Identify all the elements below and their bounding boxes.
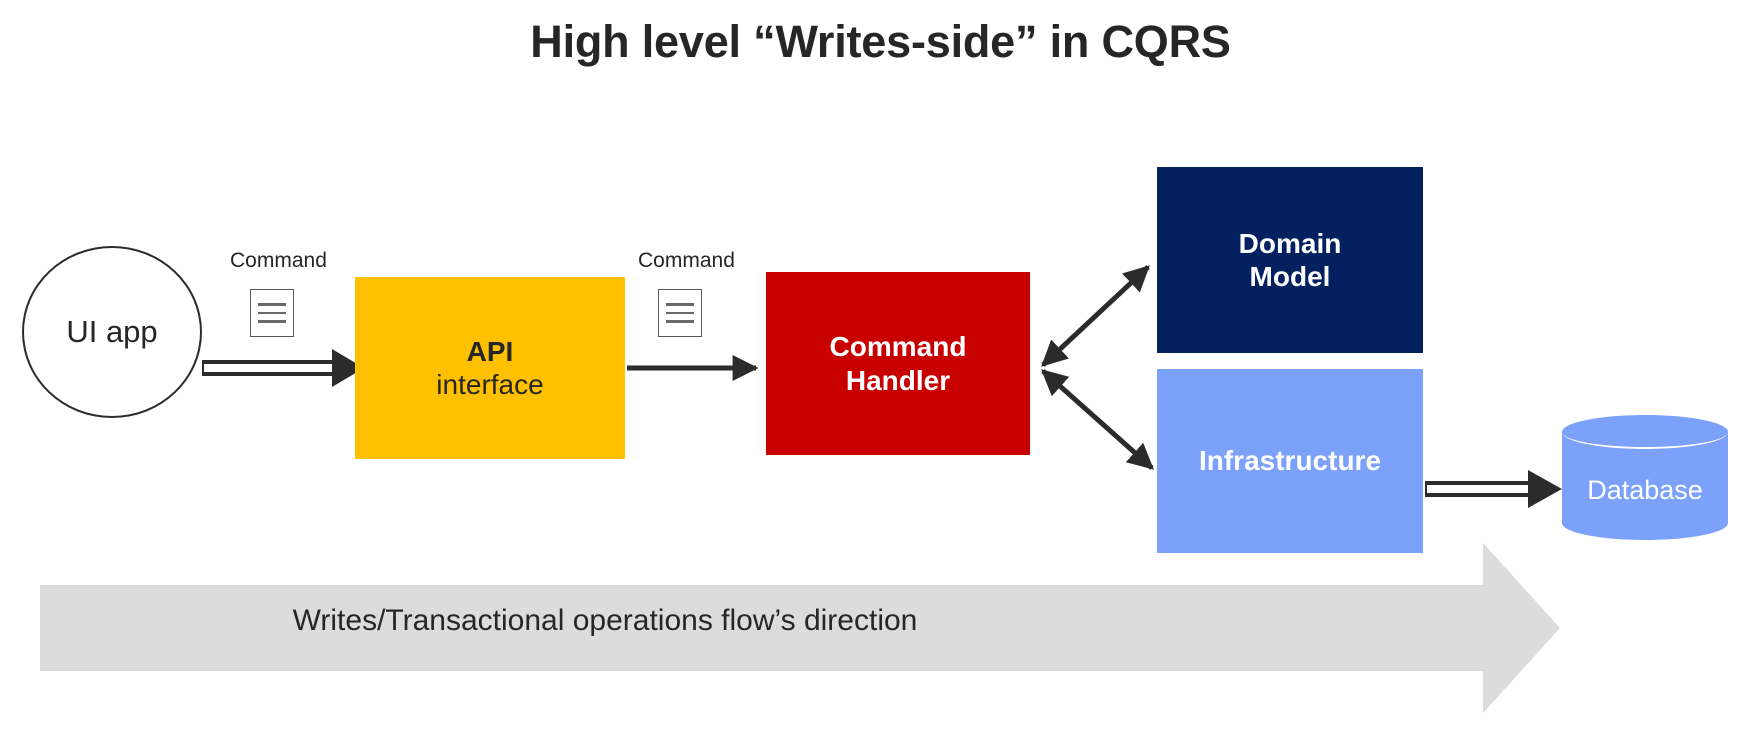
document-lines-icon	[658, 289, 702, 337]
database-cylinder-top	[1562, 415, 1728, 449]
edge-infrastructure-to-database	[1425, 470, 1562, 508]
command-handler-line-2: Handler	[846, 364, 950, 397]
node-api-interface[interactable]: API interface	[355, 277, 625, 459]
edge-command-handler-to-domain-model	[1043, 267, 1148, 365]
infrastructure-label: Infrastructure	[1199, 444, 1381, 477]
command-handler-line-1: Command	[830, 330, 967, 363]
document-lines-icon	[250, 289, 294, 337]
node-command-handler[interactable]: Command Handler	[766, 272, 1030, 455]
node-database[interactable]: Database	[1562, 415, 1728, 540]
ui-app-label: UI app	[66, 314, 157, 351]
api-subtitle: interface	[436, 368, 543, 401]
edge-command-handler-to-infrastructure	[1043, 371, 1152, 468]
api-title: API	[467, 335, 514, 368]
domain-model-line-1: Domain	[1239, 227, 1342, 260]
database-label: Database	[1562, 475, 1728, 506]
edge-label-command-2: Command	[638, 249, 735, 273]
flow-direction-banner-label: Writes/Transactional operations flow’s d…	[40, 604, 1170, 638]
domain-model-line-2: Model	[1250, 260, 1331, 293]
edge-label-command-1: Command	[230, 249, 327, 273]
node-ui-app[interactable]: UI app	[22, 246, 202, 418]
node-domain-model[interactable]: Domain Model	[1157, 167, 1423, 353]
node-infrastructure[interactable]: Infrastructure	[1157, 369, 1423, 553]
diagram-canvas: High level “Writes-side” in CQRS	[0, 0, 1761, 736]
edge-ui-app-to-api	[202, 349, 364, 387]
